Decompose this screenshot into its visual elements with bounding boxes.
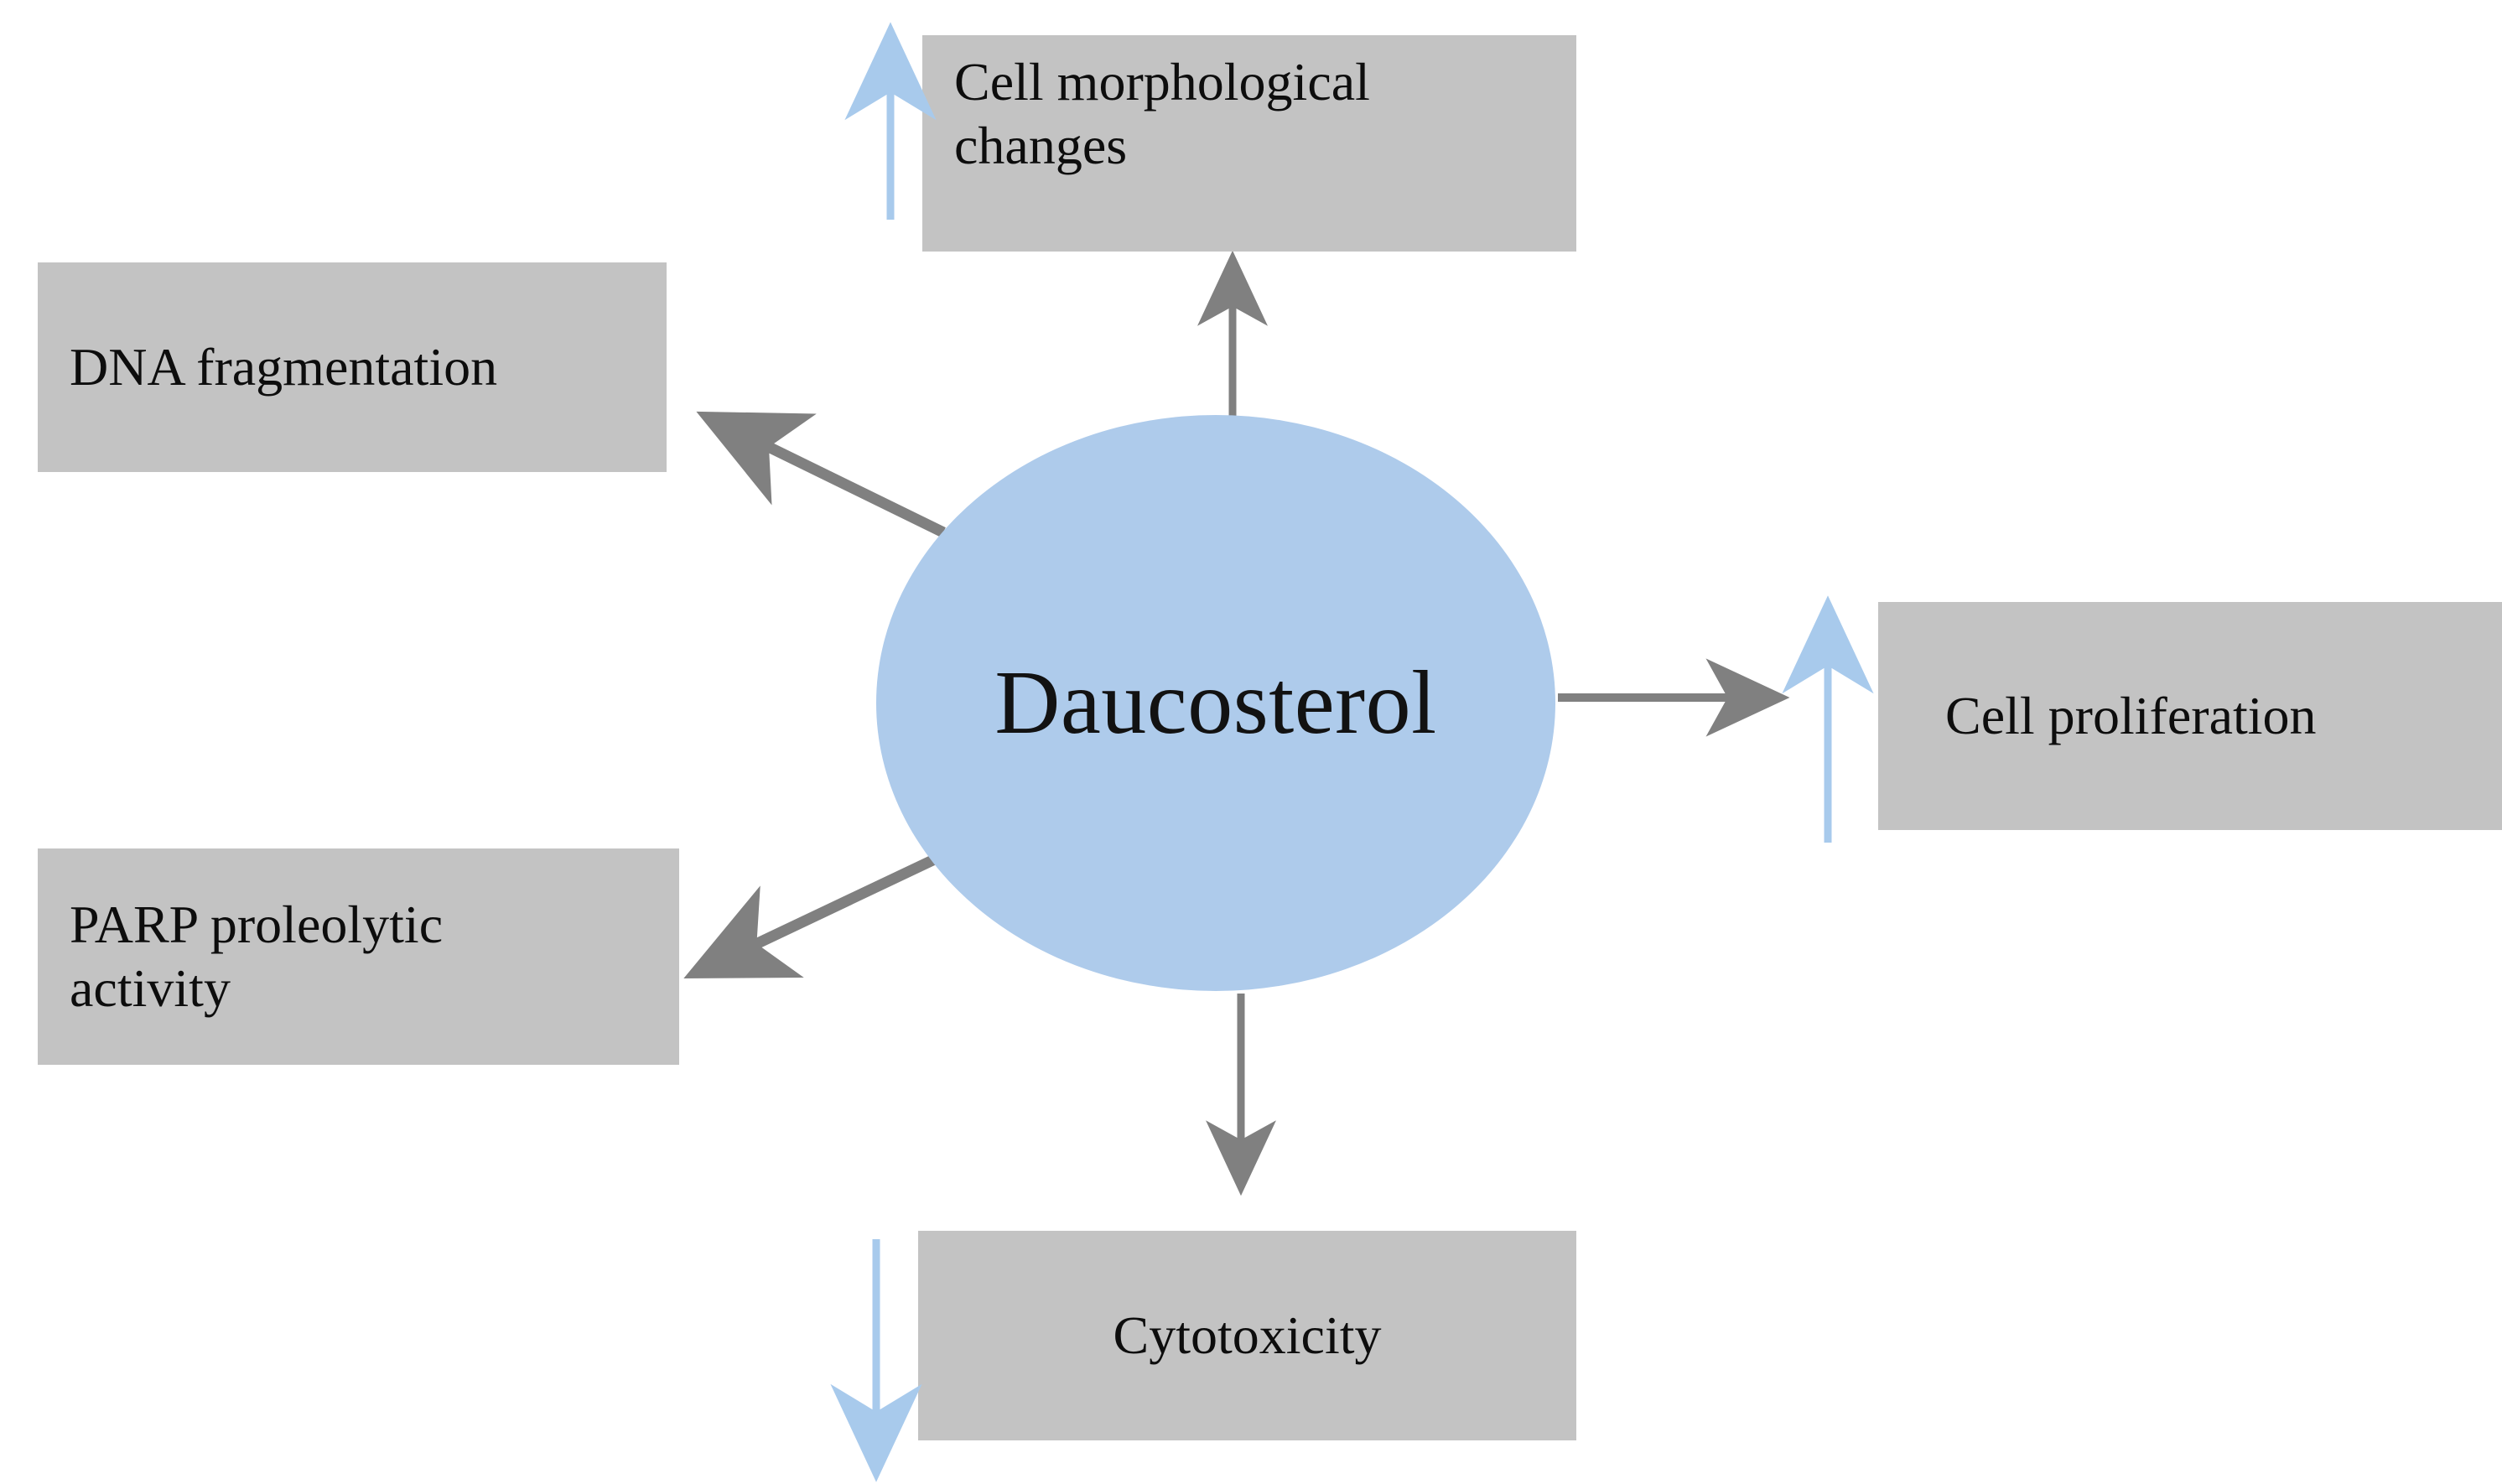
effect-arrow-layer	[0, 0, 2502, 1484]
diagram-canvas: Daucosterol Cell morphological changes D…	[0, 0, 2502, 1484]
